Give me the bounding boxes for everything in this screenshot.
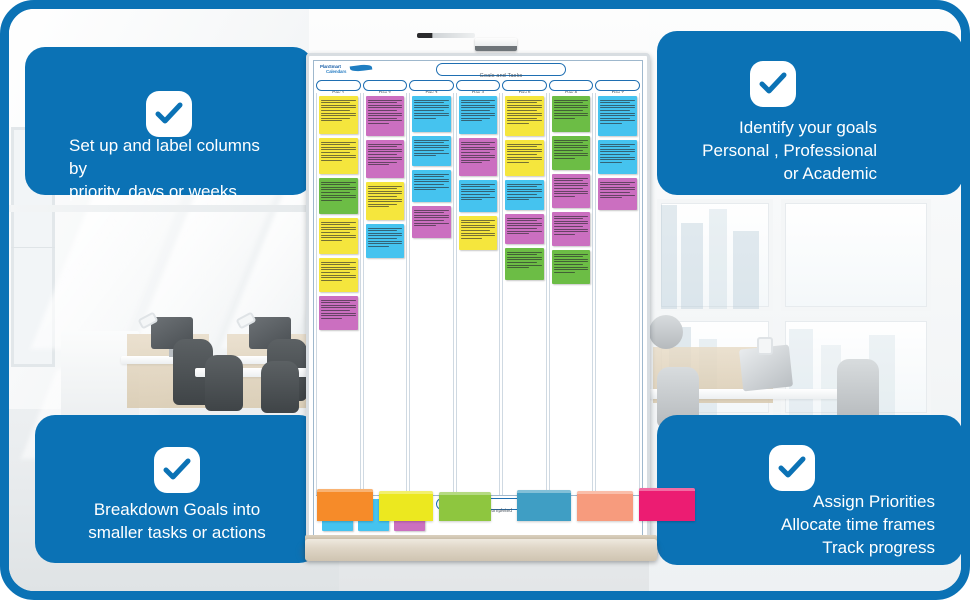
- note-text-line: [507, 159, 542, 160]
- note-text-line: [600, 102, 629, 103]
- note-text-line: [507, 189, 542, 190]
- note-text-line: [600, 120, 635, 121]
- office-chair: [649, 315, 683, 349]
- sticky-note[interactable]: [412, 96, 451, 132]
- note-text-line: [554, 191, 589, 192]
- note-text-line: [321, 232, 350, 233]
- note-text-line: [461, 222, 490, 223]
- note-text-line: [321, 182, 356, 183]
- note-text-line: [461, 227, 496, 228]
- note-text-line: [554, 256, 583, 257]
- note-text-line: [414, 107, 449, 108]
- dry-erase-marker-icon[interactable]: [417, 33, 475, 38]
- office-chair: [837, 359, 879, 421]
- note-text-line: [554, 180, 583, 181]
- note-text-line: [461, 225, 496, 226]
- note-text-line: [600, 197, 621, 198]
- info-card-breakdown-goals[interactable]: Breakdown Goals into smaller tasks or ac…: [35, 415, 319, 563]
- note-text-line: [507, 118, 536, 119]
- note-text-line: [321, 315, 356, 316]
- note-text-line: [321, 120, 342, 121]
- sticky-note[interactable]: [319, 258, 358, 292]
- note-text-line: [554, 259, 589, 260]
- note-text-line: [321, 102, 350, 103]
- note-text-line: [554, 140, 589, 141]
- note-text-line: [554, 269, 589, 270]
- note-text-line: [414, 187, 449, 188]
- note-text-line: [554, 147, 589, 148]
- note-text-line: [461, 184, 496, 185]
- sticky-note[interactable]: [552, 250, 591, 284]
- note-text-line: [414, 155, 435, 156]
- note-text-line: [368, 107, 403, 108]
- sticky-note[interactable]: [412, 170, 451, 202]
- note-text-line: [461, 100, 496, 101]
- note-text-line: [554, 188, 583, 189]
- info-card-text: Breakdown Goals into smaller tasks or ac…: [35, 499, 319, 545]
- note-text-line: [414, 174, 449, 175]
- note-text-line: [414, 217, 449, 218]
- note-text-line: [507, 262, 536, 263]
- note-text-line: [554, 153, 589, 154]
- sticky-note[interactable]: [505, 96, 544, 136]
- note-text-line: [368, 233, 403, 234]
- note-text-line: [368, 204, 397, 205]
- note-text-line: [554, 183, 589, 184]
- note-text-line: [368, 238, 397, 239]
- sticky-note[interactable]: [319, 96, 358, 134]
- note-text-line: [321, 160, 342, 161]
- note-text-line: [461, 107, 496, 108]
- check-icon: [769, 445, 815, 491]
- note-text-line: [321, 113, 356, 114]
- note-text-line: [321, 313, 356, 314]
- note-text-line: [461, 160, 490, 161]
- completed-label-text: Completed: [488, 508, 512, 514]
- note-text-line: [507, 151, 542, 152]
- note-text-line: [321, 149, 356, 150]
- note-text-line: [507, 191, 542, 192]
- whiteboard-header: PlanSmart Calendars Goals and Tasks: [314, 61, 642, 81]
- note-text-line: [321, 184, 350, 185]
- sticky-note[interactable]: [598, 140, 637, 174]
- note-text-line: [321, 197, 356, 198]
- note-text-line: [507, 123, 528, 124]
- note-text-line: [461, 199, 482, 200]
- day-column-header-2[interactable]: Day 2: [363, 80, 408, 91]
- note-text-line: [461, 235, 496, 236]
- note-text-line: [600, 144, 635, 145]
- note-text-line: [554, 142, 583, 143]
- note-text-line: [368, 186, 403, 187]
- note-text-line: [321, 275, 356, 276]
- note-text-line: [368, 120, 403, 121]
- note-text-line: [461, 233, 496, 234]
- day-column-notes-2[interactable]: [363, 93, 408, 495]
- day-column-notes-4[interactable]: [456, 93, 501, 495]
- note-text-line: [600, 182, 635, 183]
- sticky-note[interactable]: [505, 180, 544, 210]
- note-text-line: [554, 221, 589, 222]
- note-text-line: [554, 264, 583, 265]
- day-column-7[interactable]: Day 7: [595, 80, 640, 495]
- note-text-line: [554, 193, 589, 194]
- note-text-line: [321, 302, 350, 303]
- note-text-line: [368, 159, 403, 160]
- note-text-line: [368, 123, 389, 124]
- note-text-line: [554, 155, 589, 156]
- note-text-line: [507, 184, 542, 185]
- note-text-line: [368, 162, 397, 163]
- note-text-line: [507, 220, 536, 221]
- day-column-notes-7[interactable]: [595, 93, 640, 495]
- note-text-line: [507, 162, 528, 163]
- note-text-line: [554, 102, 583, 103]
- note-text-line: [414, 184, 443, 185]
- sticky-note[interactable]: [552, 96, 591, 132]
- teal-pad[interactable]: [517, 490, 571, 521]
- note-text-line: [368, 157, 403, 158]
- note-text-line: [368, 146, 397, 147]
- note-text-line: [321, 237, 356, 238]
- note-text-line: [507, 194, 536, 195]
- note-text-line: [368, 199, 403, 200]
- note-text-line: [554, 100, 589, 101]
- green-pad[interactable]: [439, 492, 491, 521]
- note-text-line: [461, 142, 496, 143]
- note-text-line: [461, 152, 490, 153]
- sticky-note[interactable]: [412, 136, 451, 166]
- note-text-line: [321, 105, 356, 106]
- sticky-note[interactable]: [505, 214, 544, 244]
- note-text-line: [507, 197, 542, 198]
- note-text-line: [507, 157, 542, 158]
- note-text-line: [461, 189, 496, 190]
- note-text-line: [600, 118, 629, 119]
- note-text-line: [321, 267, 356, 268]
- note-text-line: [321, 100, 356, 101]
- note-text-line: [414, 215, 449, 216]
- note-text-line: [507, 115, 542, 116]
- note-text-line: [600, 187, 635, 188]
- day-column-header-3[interactable]: Day 3: [409, 80, 454, 91]
- note-text-line: [321, 280, 342, 281]
- day-column-3[interactable]: Day 3: [409, 80, 454, 495]
- note-text-line: [600, 151, 635, 152]
- note-text-line: [554, 158, 575, 159]
- check-icon: [154, 447, 200, 493]
- info-card-setup-columns[interactable]: Set up and label columns by priority, da…: [25, 47, 313, 195]
- note-text-line: [321, 272, 350, 273]
- note-text-line: [321, 235, 356, 236]
- desk-lamp: [757, 337, 773, 355]
- city-building: [681, 223, 703, 309]
- note-text-line: [461, 186, 490, 187]
- note-text-line: [507, 110, 536, 111]
- day-column-header-6[interactable]: Day 6: [549, 80, 594, 91]
- day-column-header-7[interactable]: Day 7: [595, 80, 640, 91]
- note-text-line: [321, 200, 342, 201]
- office-chair: [261, 361, 299, 413]
- sticky-note[interactable]: [459, 180, 498, 212]
- day-column-header-1[interactable]: Day 1: [316, 80, 361, 91]
- note-text-line: [554, 272, 575, 273]
- note-text-line: [600, 157, 635, 158]
- pink-pad[interactable]: [639, 488, 695, 521]
- note-text-line: [600, 123, 621, 124]
- note-text-line: [461, 105, 496, 106]
- note-text-line: [507, 225, 542, 226]
- board-title-text: Goals and Tasks: [480, 73, 523, 79]
- note-text-line: [600, 162, 621, 163]
- note-text-line: [321, 240, 342, 241]
- sticky-note[interactable]: [412, 206, 451, 238]
- board-title-field[interactable]: Goals and Tasks: [436, 63, 566, 76]
- note-text-line: [414, 181, 449, 182]
- day-column-notes-1[interactable]: [316, 93, 361, 495]
- note-text-line: [507, 105, 542, 106]
- note-text-line: [414, 220, 443, 221]
- note-text-line: [368, 154, 397, 155]
- note-text-line: [600, 100, 635, 101]
- sticky-note[interactable]: [598, 178, 637, 210]
- note-text-line: [461, 197, 496, 198]
- day-column-6[interactable]: Day 6: [549, 80, 594, 495]
- orange-pad[interactable]: [317, 489, 373, 521]
- note-text-line: [507, 259, 542, 260]
- note-text-line: [461, 113, 496, 114]
- sticky-note[interactable]: [552, 136, 591, 170]
- whiteboard-surface[interactable]: PlanSmart Calendars Goals and Tasks Day …: [306, 53, 650, 545]
- day-column-2[interactable]: Day 2: [363, 80, 408, 495]
- note-text-line: [554, 218, 583, 219]
- note-text-line: [461, 194, 490, 195]
- note-text-line: [554, 196, 575, 197]
- sticky-note[interactable]: [366, 182, 405, 220]
- day-column-notes-3[interactable]: [409, 93, 454, 495]
- day-column-4[interactable]: Day 4: [456, 80, 501, 495]
- note-text-line: [321, 224, 350, 225]
- info-card-identify-goals[interactable]: Identify your goals Personal , Professio…: [657, 31, 963, 195]
- sticky-note[interactable]: [319, 178, 358, 214]
- note-text-line: [321, 318, 342, 319]
- note-text-line: [321, 192, 350, 193]
- marker-tray: [305, 539, 657, 561]
- sticky-note[interactable]: [459, 96, 498, 134]
- note-text-line: [321, 264, 350, 265]
- note-text-line: [600, 154, 629, 155]
- note-text-line: [368, 230, 397, 231]
- note-text-line: [321, 229, 356, 230]
- note-text-line: [554, 254, 589, 255]
- day-column-1[interactable]: Day 1: [316, 80, 361, 495]
- note-text-line: [368, 115, 403, 116]
- sticky-note[interactable]: [598, 96, 637, 136]
- note-text-line: [554, 178, 589, 179]
- note-text-line: [554, 113, 589, 114]
- note-text-line: [414, 223, 449, 224]
- day-column-header-4[interactable]: Day 4: [456, 80, 501, 91]
- city-building: [733, 231, 759, 309]
- note-text-line: [368, 228, 403, 229]
- note-text-line: [368, 241, 403, 242]
- note-text-line: [368, 243, 403, 244]
- note-text-line: [554, 231, 589, 232]
- note-text-line: [321, 222, 356, 223]
- sticky-note[interactable]: [552, 174, 591, 208]
- note-text-line: [461, 191, 496, 192]
- note-text-line: [461, 149, 496, 150]
- note-text-line: [461, 162, 482, 163]
- day-column-notes-5[interactable]: [502, 93, 547, 495]
- info-card-text: Assign Priorities Allocate time frames T…: [657, 491, 963, 560]
- note-text-line: [600, 195, 635, 196]
- sticky-note[interactable]: [319, 218, 358, 254]
- note-text-line: [507, 218, 542, 219]
- note-text-line: [368, 118, 397, 119]
- note-text-line: [554, 107, 589, 108]
- note-text-line: [414, 142, 443, 143]
- note-text-line: [554, 216, 589, 217]
- note-text-line: [461, 220, 496, 221]
- note-text-line: [554, 267, 589, 268]
- note-text-line: [414, 212, 443, 213]
- note-text-line: [321, 262, 356, 263]
- check-icon: [750, 61, 796, 107]
- note-text-line: [368, 235, 403, 236]
- note-text-line: [368, 113, 403, 114]
- note-text-line: [368, 188, 397, 189]
- note-text-line: [414, 102, 443, 103]
- note-text-line: [368, 191, 403, 192]
- note-text-line: [414, 145, 449, 146]
- note-text-line: [368, 110, 397, 111]
- note-text-line: [414, 110, 443, 111]
- note-text-line: [321, 307, 356, 308]
- day-column-header-5[interactable]: Day 5: [502, 80, 547, 91]
- plansmart-calendars-logo: PlanSmart Calendars: [320, 64, 382, 79]
- note-text-line: [554, 150, 583, 151]
- window-left-pane: [11, 247, 55, 248]
- sticky-note[interactable]: [505, 140, 544, 176]
- note-text-line: [507, 146, 536, 147]
- note-text-line: [461, 155, 496, 156]
- whiteboard-eraser-icon[interactable]: [475, 38, 517, 51]
- note-text-line: [554, 110, 583, 111]
- note-text-line: [554, 118, 575, 119]
- note-text-line: [368, 206, 389, 207]
- note-text-line: [414, 118, 435, 119]
- note-text-line: [600, 146, 629, 147]
- note-text-line: [321, 269, 356, 270]
- info-card-text: Identify your goals Personal , Professio…: [657, 117, 963, 186]
- note-text-line: [321, 227, 356, 228]
- salmon-pad[interactable]: [577, 491, 633, 521]
- city-building: [709, 209, 727, 309]
- note-text-line: [507, 186, 536, 187]
- poster-frame: Set up and label columns by priority, da…: [0, 0, 970, 600]
- note-text-line: [414, 140, 449, 141]
- note-text-line: [600, 192, 629, 193]
- note-text-line: [600, 149, 635, 150]
- check-icon: [146, 91, 192, 137]
- note-text-line: [321, 115, 356, 116]
- note-text-line: [321, 110, 350, 111]
- note-text-line: [321, 147, 356, 148]
- note-text-line: [414, 179, 449, 180]
- day-column-notes-6[interactable]: [549, 93, 594, 495]
- note-text-line: [461, 120, 482, 121]
- note-text-line: [507, 228, 536, 229]
- sticky-note[interactable]: [505, 248, 544, 280]
- note-text-line: [321, 157, 356, 158]
- note-text-line: [600, 189, 635, 190]
- note-text-line: [507, 102, 536, 103]
- note-text-line: [507, 265, 542, 266]
- note-text-line: [507, 223, 542, 224]
- note-text-line: [554, 234, 575, 235]
- note-text-line: [368, 246, 389, 247]
- note-text-line: [321, 107, 356, 108]
- note-text-line: [554, 223, 589, 224]
- note-text-line: [600, 159, 635, 160]
- sticky-note[interactable]: [366, 224, 405, 258]
- sticky-note[interactable]: [319, 296, 358, 330]
- note-text-line: [368, 100, 403, 101]
- note-text-line: [368, 193, 403, 194]
- note-text-line: [554, 145, 589, 146]
- sticky-note[interactable]: [459, 216, 498, 250]
- note-text-line: [414, 150, 443, 151]
- day-columns: Day 1Day 2Day 3Day 4Day 5Day 6Day 7: [316, 80, 640, 495]
- note-text-line: [461, 238, 482, 239]
- note-text-line: [414, 115, 449, 116]
- note-text-line: [507, 149, 542, 150]
- note-text-line: [554, 229, 589, 230]
- city-building: [789, 329, 813, 415]
- sticky-note[interactable]: [366, 96, 405, 136]
- note-text-line: [321, 152, 350, 153]
- note-text-line: [554, 226, 583, 227]
- sticky-note[interactable]: [552, 212, 591, 246]
- note-text-line: [321, 144, 350, 145]
- note-text-line: [321, 195, 356, 196]
- note-text-line: [321, 305, 356, 306]
- sticky-note[interactable]: [366, 140, 405, 178]
- yellow-pad[interactable]: [379, 491, 433, 521]
- note-text-line: [321, 187, 356, 188]
- office-chair: [205, 355, 243, 411]
- whiteboard[interactable]: PlanSmart Calendars Goals and Tasks Day …: [306, 53, 654, 553]
- sticky-note[interactable]: [459, 138, 498, 176]
- info-card-assign-priorities[interactable]: Assign Priorities Allocate time frames T…: [657, 415, 963, 565]
- note-text-line: [321, 189, 356, 190]
- note-text-line: [461, 102, 490, 103]
- skyline-window: [781, 199, 931, 311]
- sticky-note[interactable]: [319, 138, 358, 174]
- note-text-line: [461, 118, 490, 119]
- whiteboard-printed-area: PlanSmart Calendars Goals and Tasks Day …: [313, 60, 643, 538]
- note-text-line: [461, 144, 490, 145]
- note-text-line: [321, 142, 356, 143]
- note-text-line: [507, 267, 528, 268]
- note-text-line: [368, 105, 403, 106]
- note-text-line: [600, 105, 635, 106]
- note-text-line: [414, 113, 449, 114]
- note-text-line: [414, 100, 449, 101]
- day-column-5[interactable]: Day 5: [502, 80, 547, 495]
- note-text-line: [507, 154, 536, 155]
